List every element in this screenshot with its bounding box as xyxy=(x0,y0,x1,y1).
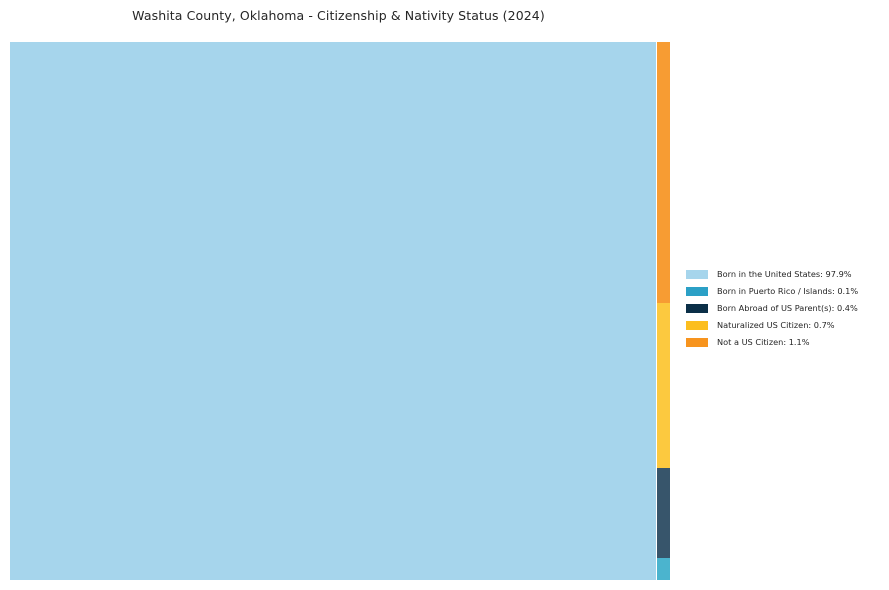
legend-swatch-icon xyxy=(686,304,708,314)
legend-swatch-icon xyxy=(686,338,708,348)
legend-item-label: Not a US Citizen: 1.1% xyxy=(717,337,810,348)
treemap-tile-not-a-us-citizen[interactable]: Not a US Citizen: 1.1% xyxy=(657,42,670,303)
treemap-plot-area: Born in the United States: 97.9% Not a U… xyxy=(10,42,670,580)
legend-swatch-icon xyxy=(686,270,708,280)
legend-item-naturalized-us-citizen[interactable]: Naturalized US Citizen: 0.7% xyxy=(686,317,882,334)
legend-item-label: Naturalized US Citizen: 0.7% xyxy=(717,320,835,331)
legend-item-label: Born in Puerto Rico / Islands: 0.1% xyxy=(717,286,858,297)
legend-item-born-in-puerto-rico[interactable]: Born in Puerto Rico / Islands: 0.1% xyxy=(686,283,882,300)
treemap-tile-naturalized-us-citizen[interactable]: Naturalized US Citizen: 0.7% xyxy=(657,303,670,468)
treemap-tile-born-in-united-states[interactable]: Born in the United States: 97.9% xyxy=(10,42,656,580)
legend-item-born-abroad-us-parents[interactable]: Born Abroad of US Parent(s): 0.4% xyxy=(686,300,882,317)
chart-legend: Born in the United States: 97.9% Born in… xyxy=(686,266,882,351)
treemap-tile-born-abroad-us-parents[interactable]: Born Abroad of US Parent(s): 0.4% xyxy=(657,468,670,558)
legend-swatch-icon xyxy=(686,321,708,331)
legend-item-not-a-us-citizen[interactable]: Not a US Citizen: 1.1% xyxy=(686,334,882,351)
legend-swatch-icon xyxy=(686,287,708,297)
treemap-tile-born-in-puerto-rico[interactable]: Born in Puerto Rico / Islands: 0.1% xyxy=(657,558,670,580)
legend-item-born-in-united-states[interactable]: Born in the United States: 97.9% xyxy=(686,266,882,283)
legend-item-label: Born Abroad of US Parent(s): 0.4% xyxy=(717,303,858,314)
legend-item-label: Born in the United States: 97.9% xyxy=(717,269,852,280)
chart-title: Washita County, Oklahoma - Citizenship &… xyxy=(0,8,677,23)
